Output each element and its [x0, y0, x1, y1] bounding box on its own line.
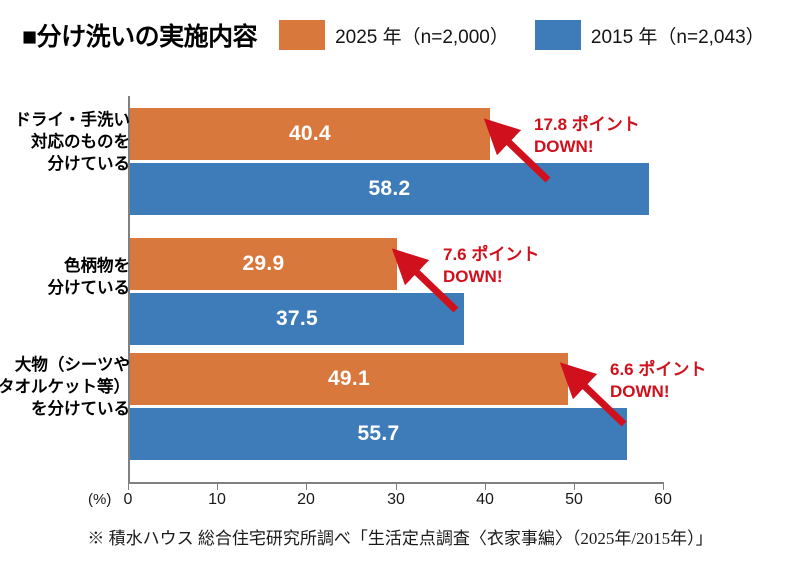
x-tick-50 — [574, 482, 575, 490]
bar-2015-group-2[interactable]: 55.7 — [130, 408, 627, 460]
bar-2025-group-2[interactable]: 49.1 — [130, 353, 568, 405]
page-title: ■分け洗いの実施内容 — [22, 17, 257, 53]
bar-2015-group-0[interactable]: 58.2 — [130, 163, 649, 215]
bar-value-2015-group-0: 58.2 — [368, 177, 410, 201]
chart-header: ■分け洗いの実施内容 2025 年（n=2,000） 2015 年（n=2,04… — [0, 0, 800, 70]
bar-value-2025-group-0: 40.4 — [289, 122, 331, 146]
annotation-group-2: 6.6 ポイント DOWN! — [610, 359, 706, 403]
legend-item-2025[interactable]: 2025 年（n=2,000） — [279, 20, 509, 50]
legend-label-2015: 2015 年（n=2,043） — [591, 22, 765, 49]
bar-value-2015-group-1: 37.5 — [276, 307, 318, 331]
x-tick-10 — [217, 482, 218, 490]
x-tick-label-40: 40 — [476, 491, 494, 509]
legend-swatch-2025 — [279, 20, 325, 50]
category-label-1: 色柄物を 分けている — [0, 256, 130, 300]
bar-2025-group-0[interactable]: 40.4 — [130, 108, 490, 160]
x-tick-label-20: 20 — [297, 491, 315, 509]
bar-2015-group-1[interactable]: 37.5 — [130, 293, 464, 345]
chart-legend: 2025 年（n=2,000） 2015 年（n=2,043） — [279, 20, 765, 50]
legend-swatch-2015 — [535, 20, 581, 50]
x-tick-0 — [128, 482, 129, 490]
x-tick-40 — [485, 482, 486, 490]
bar-2025-group-1[interactable]: 29.9 — [130, 238, 397, 290]
source-footnote: ※ 積水ハウス 総合住宅研究所調べ「生活定点調査〈衣家事編〉（2025年/201… — [0, 524, 800, 549]
legend-label-2025: 2025 年（n=2,000） — [335, 22, 509, 49]
annotation-group-1: 7.6 ポイント DOWN! — [443, 244, 539, 288]
bar-value-2025-group-2: 49.1 — [328, 367, 370, 391]
category-label-0: ドライ・手洗い 対応のものを 分けている — [0, 110, 130, 176]
x-tick-label-10: 10 — [208, 491, 226, 509]
x-tick-30 — [396, 482, 397, 490]
chart-plot-area: (%) 0 10 20 30 40 50 60 ドライ・手洗い 対応のものを 分… — [0, 70, 800, 510]
x-tick-60 — [663, 482, 664, 490]
annotation-group-0: 17.8 ポイント DOWN! — [534, 114, 640, 158]
x-tick-20 — [306, 482, 307, 490]
category-label-2: 大物（シーツや タオルケット等） を分けている — [0, 355, 130, 421]
x-tick-label-60: 60 — [654, 491, 672, 509]
x-tick-label-50: 50 — [565, 491, 583, 509]
legend-item-2015[interactable]: 2015 年（n=2,043） — [535, 20, 765, 50]
bar-value-2015-group-2: 55.7 — [357, 422, 399, 446]
x-axis-unit-label: (%) — [88, 491, 111, 508]
x-tick-label-0: 0 — [124, 491, 133, 509]
bar-value-2025-group-1: 29.9 — [242, 252, 284, 276]
x-tick-label-30: 30 — [387, 491, 405, 509]
